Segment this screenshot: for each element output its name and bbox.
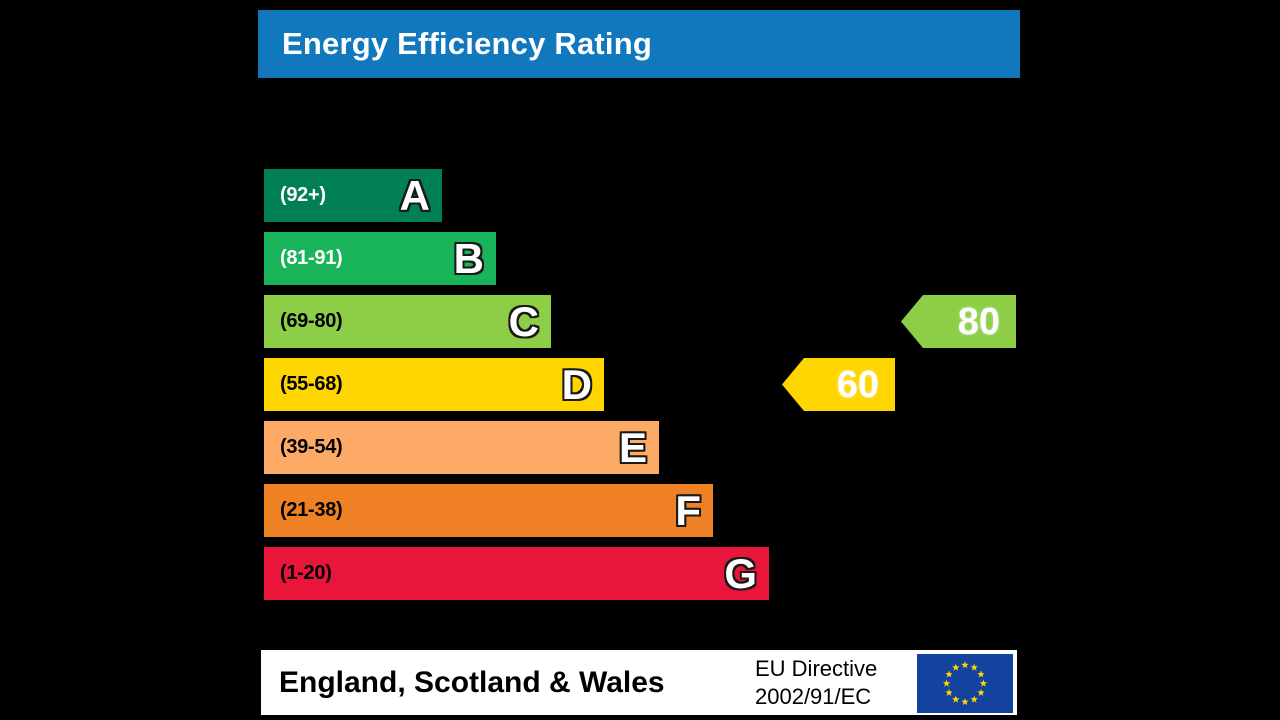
band-letter-a: A — [400, 175, 430, 217]
band-letter-d: D — [562, 364, 592, 406]
band-g: (1-20)G — [264, 547, 769, 600]
column-header-blank — [261, 85, 777, 130]
band-d: (55-68)D — [264, 358, 604, 411]
band-letter-e: E — [619, 427, 647, 469]
footer-directive-label: EU Directive 2002/91/EC — [755, 654, 877, 710]
chart-header-bar: Energy Efficiency Rating — [258, 10, 1020, 78]
potential-rating-value: 80 — [958, 303, 1000, 341]
caption-not-efficient: Not energy efficient - higher running co… — [276, 606, 628, 628]
band-letter-g: G — [724, 553, 757, 595]
current-rating-value: 60 — [837, 366, 879, 404]
band-range-a: (92+) — [280, 184, 326, 207]
band-letter-c: C — [509, 301, 539, 343]
band-range-c: (69-80) — [280, 310, 342, 333]
caption-very-efficient: Very energy efficient - lower running co… — [276, 138, 629, 160]
band-range-f: (21-38) — [280, 499, 342, 522]
column-header-current: Current — [777, 85, 896, 130]
band-range-b: (81-91) — [280, 247, 342, 270]
band-range-e: (39-54) — [280, 436, 342, 459]
band-a: (92+)A — [264, 169, 442, 222]
energy-efficiency-rating-chart: Energy Efficiency Rating Current Potenti… — [258, 10, 1020, 718]
column-header-potential: Potential — [896, 85, 1017, 130]
eu-flag-icon — [917, 654, 1013, 713]
band-range-d: (55-68) — [280, 373, 342, 396]
rating-table: Current Potential Very energy efficient … — [258, 82, 1020, 644]
band-e: (39-54)E — [264, 421, 659, 474]
band-list: (92+)A(81-91)B(69-80)C(55-68)D(39-54)E(2… — [264, 169, 774, 601]
band-b: (81-91)B — [264, 232, 496, 285]
column-divider-potential — [896, 133, 899, 641]
potential-rating-arrow: 80 — [901, 295, 1016, 348]
band-c: (69-80)C — [264, 295, 551, 348]
band-f: (21-38)F — [264, 484, 713, 537]
current-rating-arrow: 60 — [782, 358, 895, 411]
band-letter-f: F — [675, 490, 701, 532]
footer-directive-line1: EU Directive — [755, 654, 877, 682]
band-letter-b: B — [454, 238, 484, 280]
band-range-g: (1-20) — [280, 562, 332, 585]
footer-directive-line2: 2002/91/EC — [755, 683, 877, 711]
column-header-row: Current Potential — [261, 85, 1017, 133]
footer-region-label: England, Scotland & Wales — [279, 666, 665, 700]
column-divider-current — [777, 133, 780, 641]
rating-body: Very energy efficient - lower running co… — [261, 133, 1017, 641]
page-title: Energy Efficiency Rating — [282, 26, 652, 62]
footer-bar: England, Scotland & Wales EU Directive 2… — [258, 647, 1020, 718]
